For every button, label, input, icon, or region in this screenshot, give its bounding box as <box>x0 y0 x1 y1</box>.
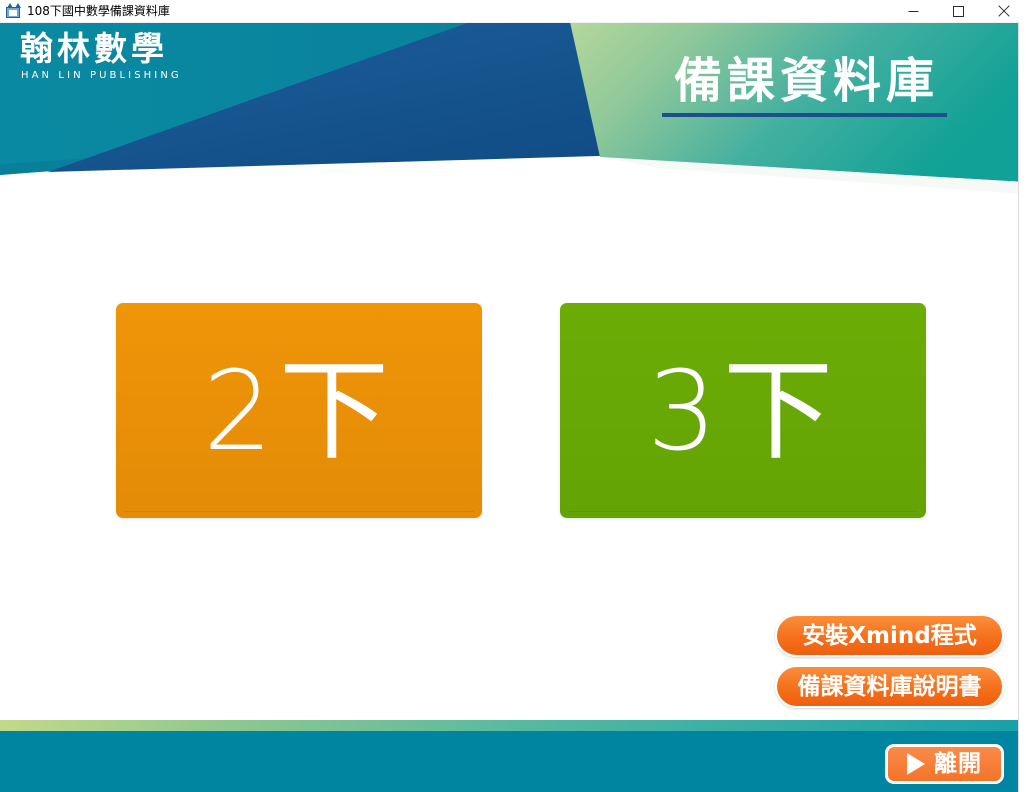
close-button[interactable] <box>981 0 1026 22</box>
grade-card-2[interactable]: 2下 <box>116 303 482 518</box>
app-icon-inner <box>9 10 17 16</box>
manual-button[interactable]: 備課資料庫說明書 <box>775 665 1004 708</box>
minimize-button[interactable] <box>891 0 936 22</box>
title-bar: 108下國中數學備課資料庫 <box>0 0 1026 23</box>
window-right-edge[interactable] <box>1018 22 1026 792</box>
window-controls <box>891 0 1026 22</box>
app-icon <box>5 3 21 19</box>
page-title-text: 備課資料庫 <box>662 53 951 109</box>
install-xmind-button-label: 安裝Xmind程式 <box>802 623 976 649</box>
footer-bar: 離開 <box>0 731 1026 792</box>
action-button-group: 安裝Xmind程式 備課資料庫說明書 <box>775 614 1004 708</box>
exit-button[interactable]: 離開 <box>885 744 1004 784</box>
manual-button-label: 備課資料庫說明書 <box>798 674 982 700</box>
window-title: 108下國中數學備課資料庫 <box>27 0 170 22</box>
exit-button-label: 離開 <box>934 751 982 777</box>
application-window: 108下國中數學備課資料庫 <box>0 0 1026 792</box>
maximize-button[interactable] <box>936 0 981 22</box>
install-xmind-button[interactable]: 安裝Xmind程式 <box>775 614 1004 657</box>
grade-card-2-label: 2下 <box>203 351 395 471</box>
page-title-underline <box>662 113 947 117</box>
grade-card-3-label: 3下 <box>647 351 839 471</box>
grade-card-3[interactable]: 3下 <box>560 303 926 518</box>
play-triangle-icon <box>907 753 925 775</box>
main-content: 2下 3下 安裝Xmind程式 備課資料庫說明書 <box>0 202 1026 720</box>
footer-gradient-strip <box>0 720 1026 731</box>
page-title: 備課資料庫 <box>662 53 951 117</box>
